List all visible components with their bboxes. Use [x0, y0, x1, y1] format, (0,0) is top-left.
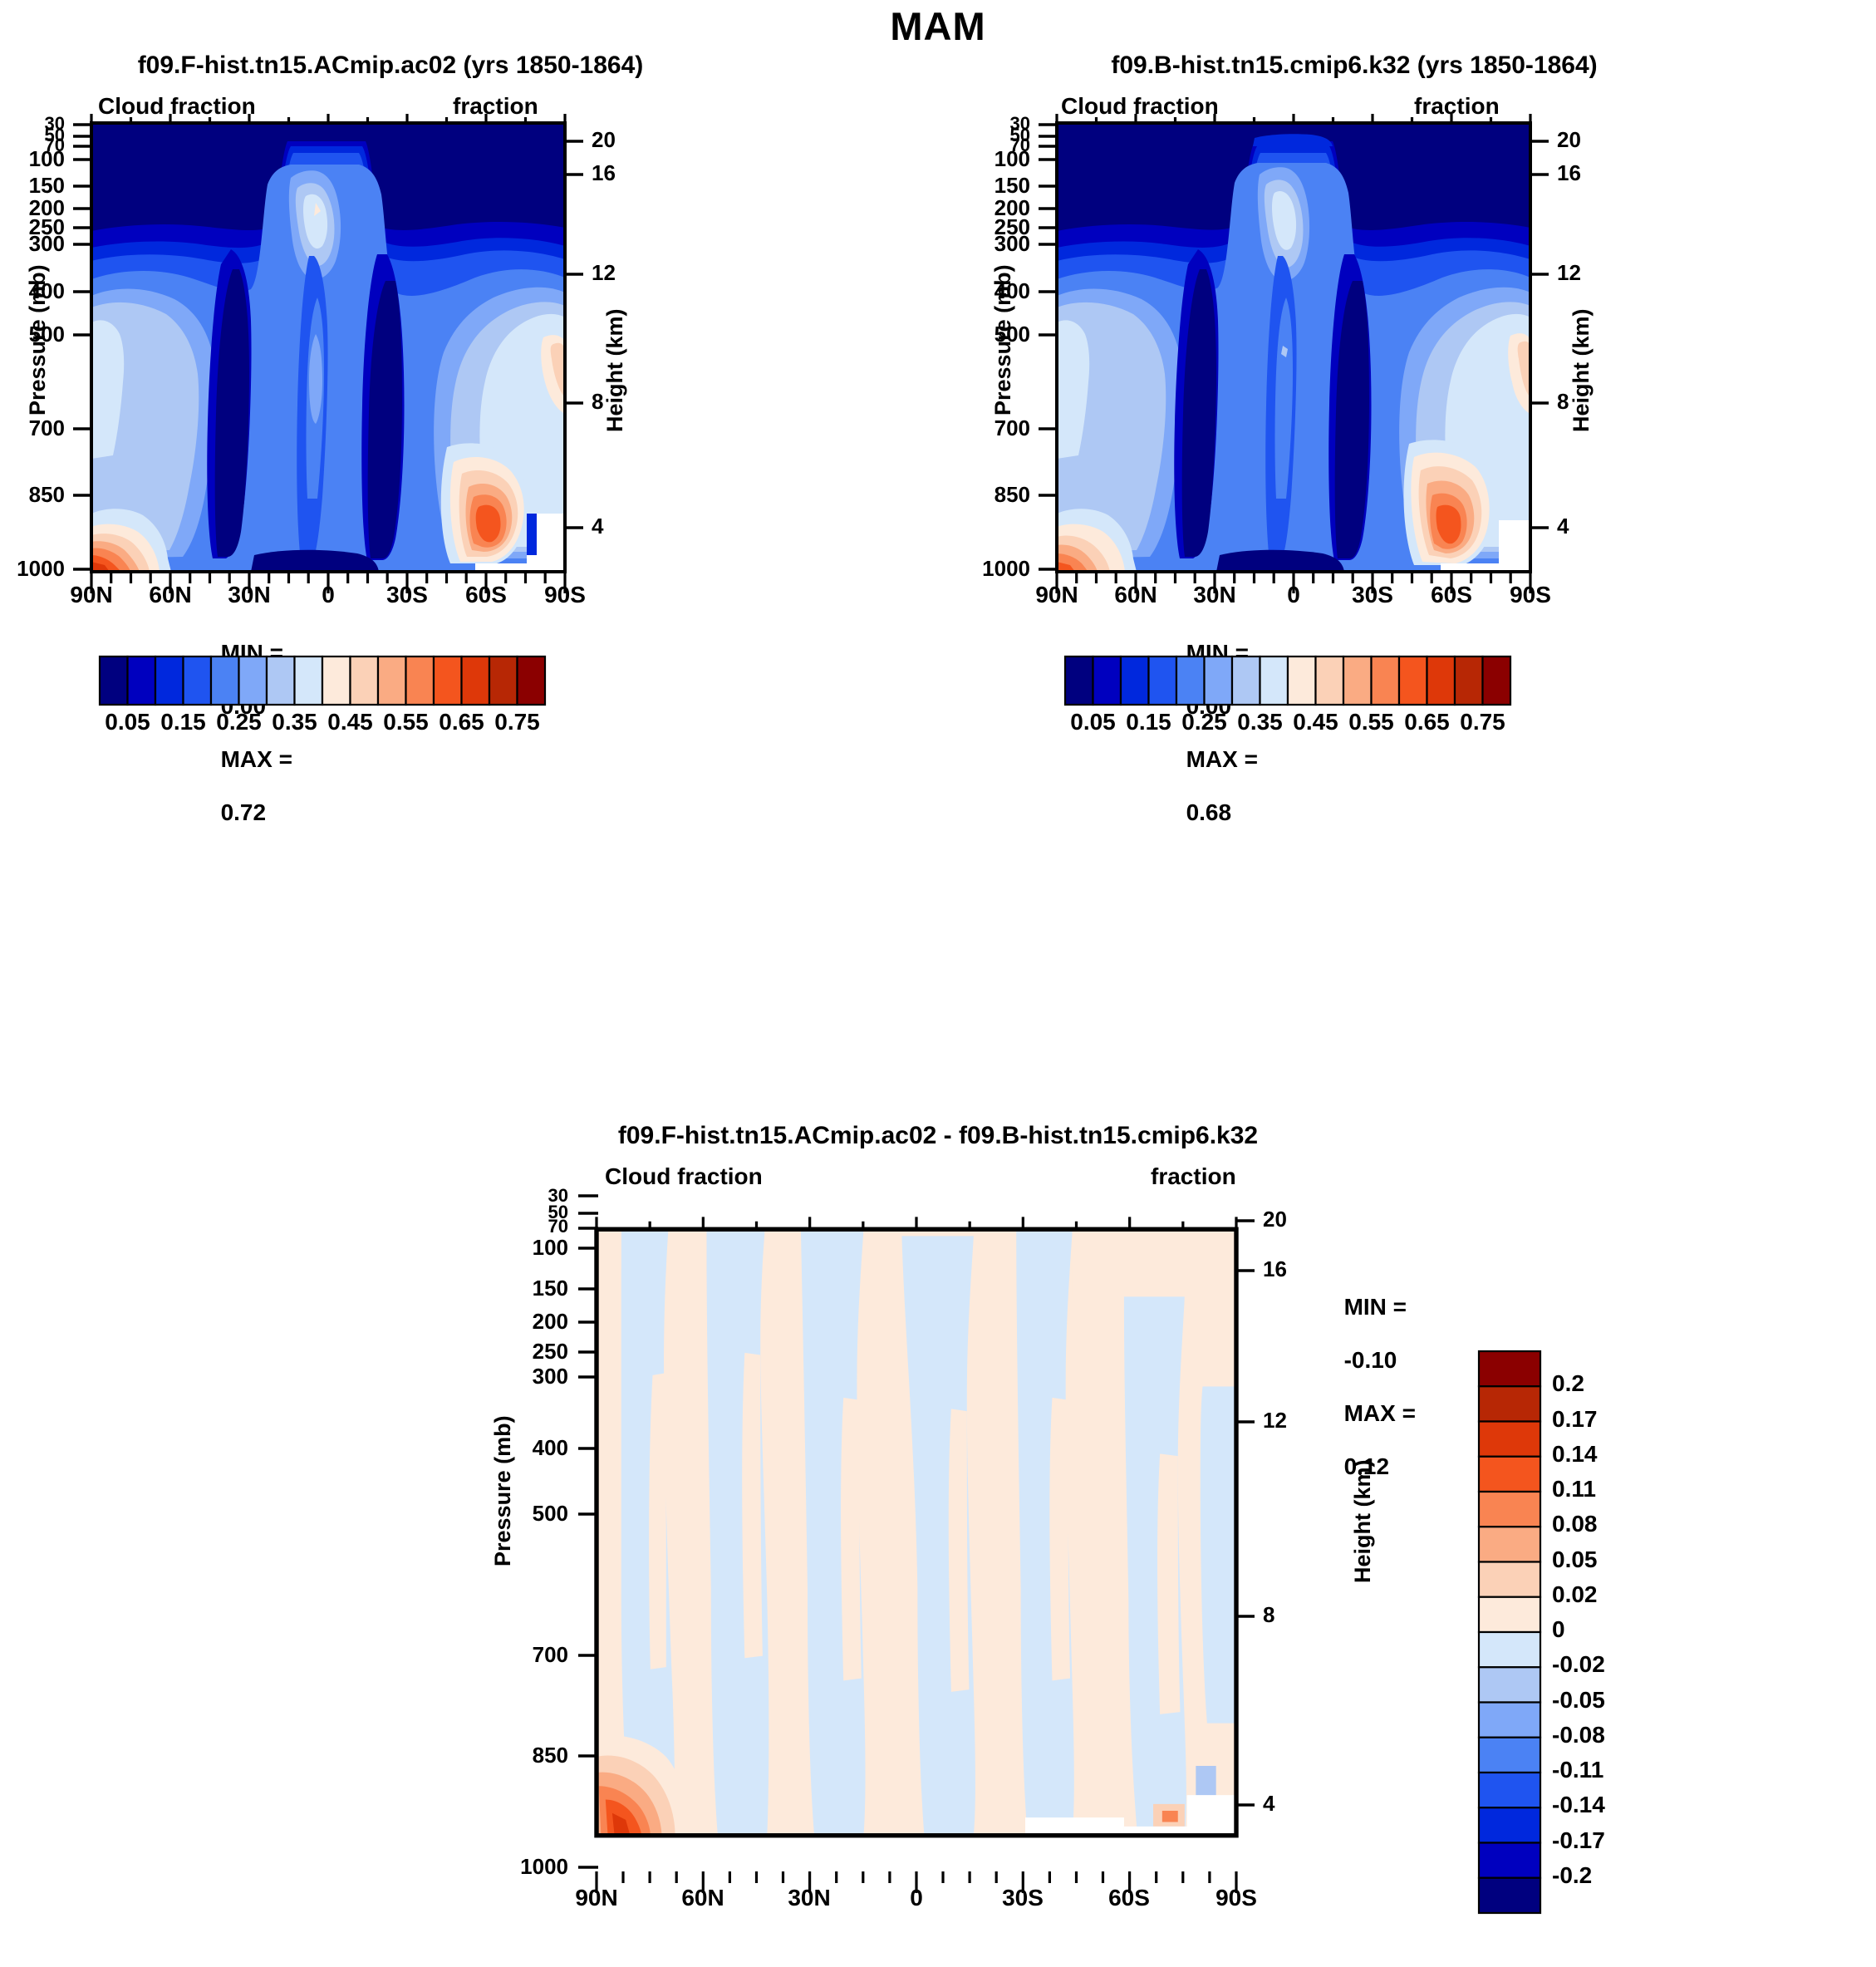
panel-right-max-value: 0.68	[1186, 799, 1232, 825]
panel-diff-title: f09.F-hist.tn15.ACmip.ac02 - f09.B-hist.…	[356, 1122, 1520, 1150]
panel-left-yaxis-ticks	[66, 123, 93, 573]
colorbar-diff-labels: 0.2 0.17 0.14 0.11 0.08 0.05 0.02 0 -0.0…	[1552, 1350, 1685, 1931]
colorbar-cell	[1479, 1597, 1540, 1632]
colorbar-cell	[211, 656, 239, 705]
colorbar-cell	[1479, 1632, 1540, 1667]
colorbar-cell	[1205, 656, 1233, 705]
colorbar-cell	[1176, 656, 1205, 705]
colorbar-cell	[1479, 1422, 1540, 1457]
colorbar-cell	[1479, 1667, 1540, 1702]
colorbar-cell	[1260, 656, 1289, 705]
colorbar-cell	[322, 656, 351, 705]
colorbar-cell	[128, 656, 156, 705]
panel-left-max-label: MAX =	[221, 746, 292, 772]
colorbar-cell	[462, 656, 490, 705]
colorbar-cell	[1455, 656, 1483, 705]
panel-left-height-ticks	[565, 123, 590, 573]
panel-left-ylabel-right: Height (km)	[602, 309, 628, 433]
colorbar-cell	[1288, 656, 1316, 705]
panel-right-ylabel-right: Height (km)	[1569, 309, 1594, 433]
colorbar-cell	[489, 656, 518, 705]
colorbar-cell	[351, 656, 379, 705]
colorbar-cell	[1479, 1807, 1540, 1842]
colorbar-cell	[1479, 1386, 1540, 1421]
page-title: MAM	[0, 3, 1876, 49]
colorbar-cell	[1479, 1562, 1540, 1597]
panel-left-lat-tick-labels: 90N 60N 30N 0 30S 60S 90S	[91, 582, 565, 615]
colorbar-cell	[1121, 656, 1149, 705]
colorbar-cell	[518, 656, 546, 705]
colorbar-cell	[239, 656, 268, 705]
panel-right-ylabel-right-wrap: Height (km)	[1569, 432, 1692, 458]
colorbar-cell	[1316, 656, 1344, 705]
panel-diff-max-value: 0.12	[1344, 1453, 1390, 1479]
colorbar-cell	[434, 656, 462, 705]
panel-left-max-value: 0.72	[221, 799, 267, 825]
colorbar-cell	[1343, 656, 1372, 705]
colorbar-cell	[1479, 1351, 1540, 1386]
colorbar-right[interactable]	[1065, 655, 1510, 706]
panel-diff-max-label: MAX =	[1344, 1400, 1416, 1426]
colorbar-cell	[1093, 656, 1122, 705]
panel-right-units-label: fraction	[1414, 93, 1500, 120]
colorbar-cell	[1479, 1878, 1540, 1913]
panel-left-units-label: fraction	[453, 93, 538, 120]
colorbar-cell	[1399, 656, 1427, 705]
panel-right-title: f09.B-hist.tn15.cmip6.k32 (yrs 1850-1864…	[997, 52, 1711, 80]
colorbar-cell	[1479, 1492, 1540, 1527]
colorbar-right-labels: 0.05 0.15 0.25 0.35 0.45 0.55 0.65 0.75	[1065, 709, 1510, 742]
colorbar-cell	[1479, 1457, 1540, 1492]
colorbar-cell	[1149, 656, 1177, 705]
panel-diff-variable-label: Cloud fraction	[605, 1163, 763, 1190]
colorbar-cell	[267, 656, 295, 705]
colorbar-cell	[1479, 1703, 1540, 1738]
panel-diff-height-ticks	[1236, 1193, 1261, 1873]
panel-diff-ylabel: Pressure (mb)	[490, 1415, 516, 1566]
panel-left-ylabel-right-wrap: Height (km)	[602, 432, 726, 458]
colorbar-cell	[1483, 656, 1511, 705]
panel-diff-ylabel-right-wrap: Height (km)	[1350, 1583, 1474, 1609]
panel-diff-min-value: -0.10	[1344, 1347, 1397, 1373]
colorbar-cell	[1232, 656, 1260, 705]
panel-diff-yaxis-ticks	[572, 1193, 598, 1873]
colorbar-cell	[1479, 1527, 1540, 1561]
panel-right-lat-tick-labels: 90N 60N 30N 0 30S 60S 90S	[1057, 582, 1530, 615]
colorbar-cell	[1479, 1738, 1540, 1773]
colorbar-cell	[406, 656, 435, 705]
panel-diff-units-label: fraction	[1151, 1163, 1236, 1190]
panel-right-max-label: MAX =	[1186, 746, 1258, 772]
panel-right-plot[interactable]	[1057, 123, 1530, 572]
panel-right-variable-label: Cloud fraction	[1061, 93, 1219, 120]
colorbar-cell	[1479, 1843, 1540, 1878]
colorbar-cell	[184, 656, 212, 705]
panel-diff-lat-tick-labels: 90N 60N 30N 0 30S 60S 90S	[597, 1885, 1236, 1918]
panel-left-title: f09.F-hist.tn15.ACmip.ac02 (yrs 1850-186…	[33, 52, 748, 80]
colorbar-left-labels: 0.05 0.15 0.25 0.35 0.45 0.55 0.65 0.75	[100, 709, 545, 742]
colorbar-cell	[155, 656, 184, 705]
panel-diff-plot[interactable]	[597, 1193, 1236, 1871]
panel-left-plot[interactable]	[91, 123, 565, 572]
colorbar-cell	[1372, 656, 1400, 705]
colorbar-cell	[1479, 1773, 1540, 1807]
panel-diff-minmax: MIN = -0.10 MAX = 0.12	[1331, 1267, 1416, 1480]
colorbar-cell	[295, 656, 323, 705]
colorbar-cell	[1065, 656, 1093, 705]
colorbar-cell	[1427, 656, 1456, 705]
panel-right-height-ticks	[1530, 123, 1555, 573]
panel-right-yaxis-ticks	[1032, 123, 1058, 573]
colorbar-diff[interactable]	[1477, 1350, 1542, 1916]
colorbar-cell	[378, 656, 406, 705]
colorbar-left[interactable]	[100, 655, 545, 706]
panel-left-variable-label: Cloud fraction	[98, 93, 256, 120]
panel-diff-min-label: MIN =	[1344, 1294, 1407, 1320]
colorbar-cell	[100, 656, 128, 705]
